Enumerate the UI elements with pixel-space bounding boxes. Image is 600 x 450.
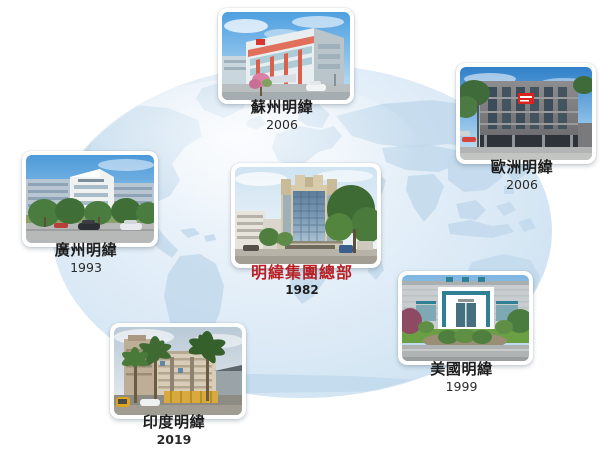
location-name-guangzhou: 廣州明緯: [22, 242, 150, 259]
location-name-headquarters: 明緯集團總部: [231, 264, 373, 282]
location-photo-card-headquarters[interactable]: [231, 163, 381, 268]
europe-office-building-photo: [460, 67, 592, 160]
location-year-europe: 2006: [456, 178, 588, 192]
location-label-guangzhou: 廣州明緯 1993: [22, 242, 150, 275]
location-name-india: 印度明緯: [110, 414, 238, 431]
location-year-suzhou: 2006: [218, 118, 346, 132]
location-label-headquarters: 明緯集團總部 1982: [231, 264, 373, 297]
location-year-india: 2019: [110, 433, 238, 447]
location-name-suzhou: 蘇州明緯: [218, 99, 346, 116]
location-year-guangzhou: 1993: [22, 261, 150, 275]
location-label-usa: 美國明緯 1999: [398, 361, 525, 394]
location-photo-card-guangzhou[interactable]: [22, 151, 158, 247]
location-photo-card-europe[interactable]: [456, 63, 596, 164]
location-label-india: 印度明緯 2019: [110, 414, 238, 447]
location-label-suzhou: 蘇州明緯 2006: [218, 99, 346, 132]
usa-office-building-photo: [402, 275, 529, 361]
location-name-europe: 歐洲明緯: [456, 159, 588, 176]
headquarters-tower-building-photo: [235, 167, 377, 264]
global-locations-graphic: 蘇州明緯 2006: [0, 0, 600, 450]
location-year-usa: 1999: [398, 380, 525, 394]
location-photo-card-india[interactable]: [110, 323, 246, 419]
location-label-europe: 歐洲明緯 2006: [456, 159, 588, 192]
location-photo-card-suzhou[interactable]: [218, 8, 354, 104]
suzhou-office-building-photo: [222, 12, 350, 100]
location-year-headquarters: 1982: [231, 284, 373, 297]
india-office-building-photo: [114, 327, 242, 415]
location-photo-card-usa[interactable]: [398, 271, 533, 365]
guangzhou-office-building-photo: [26, 155, 154, 243]
location-name-usa: 美國明緯: [398, 361, 525, 378]
